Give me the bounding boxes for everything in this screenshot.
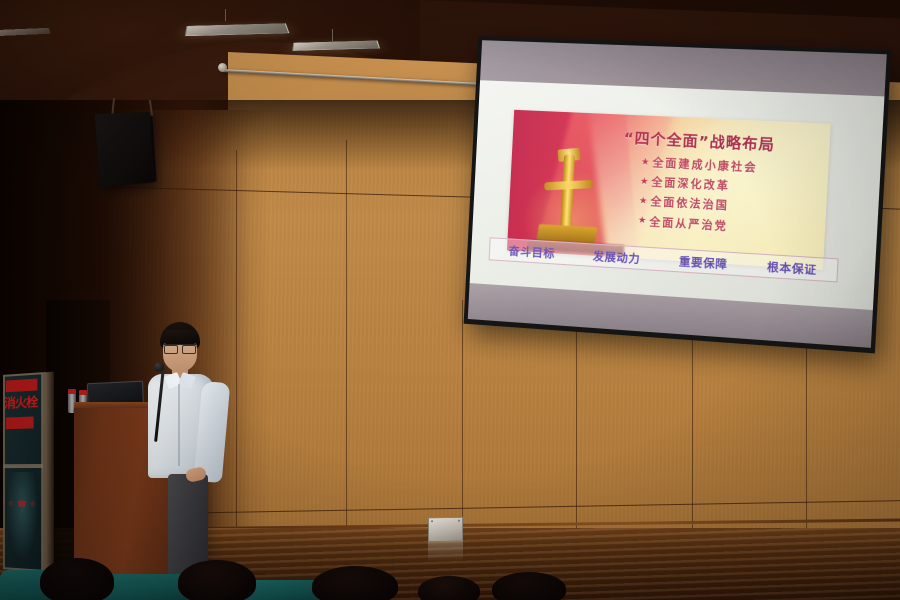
wall-seam-vertical <box>346 140 347 530</box>
attendee-2 <box>178 560 256 600</box>
slide-bullet-text: 全面依法治国 <box>650 194 729 214</box>
microphone-head <box>154 362 164 372</box>
bottle-cap <box>79 390 87 395</box>
bottle-cap <box>68 389 76 394</box>
light-panel-stem <box>225 9 226 21</box>
attendee-3 <box>312 566 398 600</box>
slide-bullet-list: ★ 全面建成小康社会 ★ 全面深化改革 ★ 全面依法治国 ★ <box>637 154 825 243</box>
slide-label-2: 发展动力 <box>593 247 641 266</box>
slide-bullet-text: 全面深化改革 <box>651 174 730 194</box>
glasses-icon <box>164 344 196 351</box>
lecture-hall-photo: “四个全面”战略布局 ★ 全面建成小康社会 ★ 全面深化改革 ★ 全面依法治国 <box>0 0 900 600</box>
star-icon: ★ <box>641 157 650 168</box>
slide-label-4: 根本保证 <box>767 258 817 278</box>
wall-seam-vertical <box>462 300 463 530</box>
wall-loudspeaker <box>95 112 154 188</box>
cabinet-glass-reflection <box>7 472 39 562</box>
cabinet-label-text: 消火栓 <box>4 394 45 414</box>
wall-seam-vertical <box>806 345 807 530</box>
wall-seam-vertical <box>692 340 693 530</box>
projection-screen[interactable]: “四个全面”战略布局 ★ 全面建成小康社会 ★ 全面深化改革 ★ 全面依法治国 <box>464 36 892 353</box>
wall-air-vent <box>428 517 463 543</box>
slide-bullet-text: 全面从严治党 <box>649 214 728 234</box>
attendee-5 <box>492 572 566 600</box>
screen-surface: “四个全面”战略布局 ★ 全面建成小康社会 ★ 全面深化改革 ★ 全面依法治国 <box>468 40 887 348</box>
attendee-1 <box>40 558 114 600</box>
presenter-hair-front <box>161 330 199 344</box>
wall-seam-vertical <box>576 330 577 530</box>
slide-content-area: “四个全面”战略布局 ★ 全面建成小康社会 ★ 全面深化改革 ★ 全面依法治国 <box>470 80 885 310</box>
star-icon: ★ <box>640 176 649 187</box>
rail-bracket <box>218 63 227 72</box>
fire-hydrant-cabinet[interactable]: 消火栓 ⌾ ☎ ⌾ <box>3 372 46 572</box>
cabinet-divider <box>3 464 43 468</box>
presenter-shirt-placket <box>178 384 180 466</box>
slide-label-3: 重要保障 <box>679 252 728 271</box>
cabinet-sign-top <box>6 379 38 393</box>
star-icon: ★ <box>638 216 647 227</box>
cabinet-sign-lower <box>6 416 34 429</box>
light-panel-stem <box>332 29 333 41</box>
cabinet-symbol-text: ⌾ ☎ ⌾ <box>9 499 39 510</box>
vent-floor-reflection <box>428 542 463 563</box>
monument-emblem-icon <box>537 147 601 247</box>
star-icon: ★ <box>639 196 648 207</box>
slide-label-1: 奋斗目标 <box>508 242 555 261</box>
presenter <box>140 322 230 592</box>
attendee-4 <box>418 576 480 600</box>
